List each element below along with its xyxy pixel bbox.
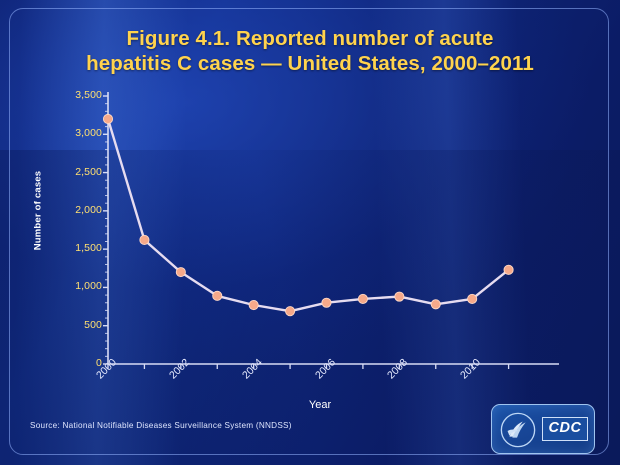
data-point: 2006: 800	[322, 298, 331, 307]
data-point: 2009: 780	[431, 300, 440, 309]
data-point: 2000: 3200	[103, 114, 112, 123]
cdc-wordmark: CDC	[542, 417, 588, 441]
data-point: 2007: 850	[358, 294, 367, 303]
data-point: 2001: 1620	[140, 235, 149, 244]
chart-plot-area: Number of cases 05001,0001,5002,0002,500…	[0, 0, 620, 465]
data-point: 2011: 1230	[504, 265, 513, 274]
data-point: 2005: 690	[285, 307, 294, 316]
data-point: 2003: 890	[213, 291, 222, 300]
data-point: 2008: 880	[395, 292, 404, 301]
data-point: 2004: 770	[249, 300, 258, 309]
data-point: 2010: 850	[468, 294, 477, 303]
line-chart-svg: 2000: 32002001: 16202002: 12002003: 8902…	[0, 0, 620, 465]
x-axis-title: Year	[240, 399, 400, 411]
hhs-seal-icon	[499, 411, 537, 449]
data-point: 2002: 1200	[176, 268, 185, 277]
cdc-logo: CDC	[491, 404, 595, 454]
source-note: Source: National Notifiable Diseases Sur…	[30, 421, 292, 430]
slide-canvas: Figure 4.1. Reported number of acute hep…	[0, 0, 620, 465]
